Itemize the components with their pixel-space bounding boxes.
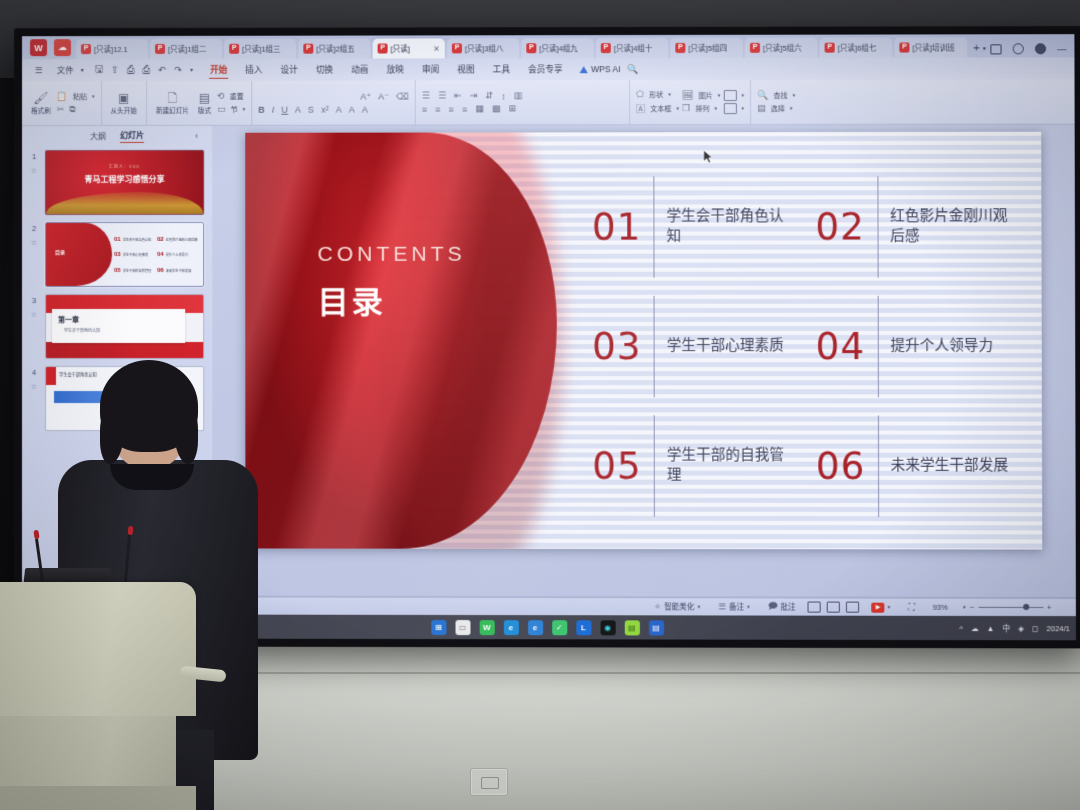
smartart-icon[interactable]: ▩: [492, 103, 501, 114]
entry-text: 学生会干部角色认知: [123, 238, 152, 242]
entry-num: 05: [114, 268, 121, 274]
chevron-down-icon[interactable]: ▾: [888, 604, 891, 610]
ribbon-tab-view[interactable]: 视图: [448, 63, 483, 75]
star-icon[interactable]: ☆: [31, 239, 37, 247]
format-painter-button[interactable]: 🖌 格式刷: [28, 92, 54, 115]
powerpoint-file-icon: P: [81, 44, 91, 54]
dark-app-icon[interactable]: ◉: [600, 620, 615, 635]
doc-tab-6[interactable]: P [只读]4组九: [521, 38, 593, 58]
doc-tab-label: [只读]培训班: [913, 42, 955, 53]
entry-num: 01: [114, 237, 121, 243]
table-of-contents: 01 学生会干部角色认知 02 红色影片金刚川观后感: [592, 170, 1016, 523]
ime-indicator[interactable]: 中: [1002, 623, 1010, 634]
save-icon[interactable]: 🖫: [95, 62, 103, 78]
chevron-down-icon[interactable]: ▾: [741, 92, 744, 98]
star-icon[interactable]: ☆: [31, 167, 37, 175]
outdent-icon[interactable]: ⇤: [454, 90, 462, 101]
doc-tab-label: [只读]1组三: [242, 43, 280, 54]
play-from-start-button[interactable]: ▣ 从头开始: [108, 91, 140, 114]
ribbon-tab-design[interactable]: 设计: [272, 64, 307, 76]
toc-divider: [654, 415, 655, 516]
toc-number: 05: [592, 447, 642, 484]
textbox-icon: 🄰: [636, 102, 645, 115]
thumb2-entry: 03 学生干部心理素质: [114, 248, 156, 262]
powerpoint-file-icon: P: [452, 43, 462, 53]
layout-button[interactable]: ▤ 版式: [195, 91, 214, 114]
line-spacing-icon[interactable]: ↕: [501, 91, 506, 101]
font-color-icon[interactable]: A: [336, 104, 342, 114]
zoom-out-button[interactable]: −: [970, 603, 974, 612]
zoom-knob[interactable]: [1023, 604, 1029, 610]
toc-text: 未来学生干部发展: [891, 456, 1008, 476]
highlight-icon[interactable]: A: [349, 104, 355, 114]
ribbon-tab-animation[interactable]: 动画: [342, 64, 377, 76]
text-direction-icon[interactable]: ⇵: [485, 90, 493, 101]
comment-label: 批注: [780, 601, 795, 612]
powerpoint-file-icon: P: [675, 43, 685, 53]
reading-view-icon[interactable]: [846, 602, 859, 613]
entry-text: 未来学生干部发展: [166, 269, 192, 273]
heading-english: CONTENTS: [318, 243, 466, 267]
toc-number: 02: [815, 208, 865, 245]
toc-item-05[interactable]: 05 学生干部的自我管理: [592, 409, 791, 523]
numbered-list-icon[interactable]: ☰: [438, 90, 446, 101]
normal-view-icon[interactable]: [808, 602, 821, 613]
chevron-left-icon[interactable]: ‹: [195, 131, 198, 141]
layout-icon: ▤: [199, 91, 210, 103]
ribbon-tab-slideshow[interactable]: 放映: [378, 63, 413, 75]
wps-ai-label: WPS AI: [591, 64, 621, 74]
thumb2-entry: 05 学生干部的自我管理: [114, 264, 156, 278]
thumb3-subtitle: 学生会干部角色认知: [64, 328, 100, 334]
ribbon-tab-transition[interactable]: 切换: [307, 64, 342, 76]
window-controls: —: [990, 43, 1074, 57]
doc-tab-4-active[interactable]: P [只读] ✕: [373, 38, 445, 58]
flag-decor: 目录: [46, 223, 112, 286]
slide-editing-stage[interactable]: CONTENTS 目录 01 学生会干部角色认知 02: [212, 125, 1076, 597]
volume-icon[interactable]: ◈: [1018, 624, 1024, 633]
slide-heading-block[interactable]: CONTENTS 目录: [318, 243, 466, 322]
bullet-list-icon[interactable]: ☰: [422, 90, 430, 101]
chevron-down-icon[interactable]: ▾: [92, 94, 95, 100]
format-painter-icon: 🖌: [33, 92, 48, 104]
slide-number-3: 3 ☆: [28, 294, 40, 359]
text-shading-icon[interactable]: A: [362, 104, 368, 114]
chevron-down-icon[interactable]: ▾: [243, 106, 246, 112]
green-app-icon[interactable]: ✓: [552, 620, 567, 635]
toc-number: 04: [816, 328, 866, 365]
doc-tab-5[interactable]: P [只读]3组八: [447, 38, 519, 58]
new-slide-button[interactable]: 🗋 新建幻灯片: [153, 91, 192, 114]
comment-icon: 🗩: [768, 600, 778, 614]
table-icon: [723, 103, 736, 114]
chevron-down-icon[interactable]: ▾: [677, 106, 680, 112]
chevron-down-icon[interactable]: ▾: [81, 67, 91, 74]
shapes-label: 形状: [649, 90, 663, 100]
hamburger-menu-icon[interactable]: ☰: [28, 65, 50, 76]
powerpoint-file-icon: P: [899, 43, 909, 53]
ribbon-group-clipboard: 🖌 格式刷 📋 粘贴 ▾ ✂ ⧉: [22, 81, 102, 125]
menu-bar: ☰ 文件 ▾ 🖫 ⇪ ⎙ ⎙ ↶ ↷ ▾ 开始 插入 设计 切换: [22, 57, 1075, 81]
play-from-start-icon: ▣: [118, 91, 129, 103]
bold-icon[interactable]: B: [258, 104, 265, 114]
doc-tab-label: [只读]: [391, 43, 410, 54]
select-button[interactable]: ▤ 选择 ▾: [757, 103, 795, 114]
doc-tab-1[interactable]: P [只读]1组二: [150, 39, 222, 59]
slide-index-label: 4: [32, 368, 36, 377]
find-button[interactable]: 🔍 查找 ▾: [757, 90, 795, 101]
thumb2-title: 目录: [55, 249, 65, 256]
copy-icon[interactable]: ⧉: [69, 104, 75, 115]
undo-icon[interactable]: ↶: [158, 64, 166, 75]
ribbon-toolbar: 🖌 格式刷 📋 粘贴 ▾ ✂ ⧉: [22, 79, 1075, 126]
zoom-in-button[interactable]: +: [1047, 603, 1051, 612]
align-justify-icon[interactable]: ≡: [462, 104, 467, 114]
print-icon[interactable]: ⎙: [127, 64, 135, 75]
speaker-notes-label: 备注: [729, 601, 744, 612]
thumb2-entry: 04 提升个人领导力: [157, 248, 199, 262]
lectern-top: [0, 582, 196, 716]
doc-tab-3[interactable]: P [只读]2组五: [298, 39, 370, 59]
italic-icon[interactable]: I: [272, 104, 275, 114]
ribbon-tab-review[interactable]: 审阅: [413, 63, 448, 75]
arrange-label: 排列: [695, 104, 709, 114]
picture-icon: 🖼: [682, 90, 694, 101]
search-icon: 🔍: [757, 90, 768, 101]
blue-app-icon[interactable]: ▤: [648, 620, 663, 635]
reset-label: 重置: [230, 91, 244, 101]
toc-divider: [653, 176, 654, 277]
grow-font-icon[interactable]: A⁺: [360, 91, 371, 102]
thumb1-subtitle: 汇报人：XXX: [46, 164, 203, 170]
smart-beautify-label: 智能美化: [664, 601, 694, 612]
thumb2-entry: 02 红色影片金刚川观后感: [157, 233, 199, 247]
doc-tab-2[interactable]: P [只读]1组三: [224, 39, 296, 59]
font-style-row: B I U A S x² A A A: [258, 104, 409, 114]
wps-ai-icon: [580, 66, 588, 73]
entry-text: 学生干部的自我管理: [123, 269, 152, 273]
ribbon-tab-start[interactable]: 开始: [201, 64, 236, 76]
toc-item-02[interactable]: 02 红色影片金刚川观后感: [815, 170, 1015, 284]
textbox-button[interactable]: 🄰 文本框 ▾: [636, 102, 679, 115]
red-band-bottom: [46, 342, 203, 358]
tab-slides[interactable]: 幻灯片: [120, 129, 144, 142]
thumb3-title: 第一章: [58, 315, 79, 325]
chevron-down-icon[interactable]: ▾: [714, 106, 717, 112]
chevron-down-icon[interactable]: ▾: [963, 604, 966, 610]
powerpoint-file-icon: P: [303, 44, 313, 54]
layout-label: 版式: [198, 104, 211, 114]
system-tray: ^ ☁ ▲ 中 ◈ ◻ 2024/1: [959, 622, 1069, 633]
file-menu[interactable]: 文件: [50, 64, 81, 76]
entry-text: 学生干部心理素质: [123, 253, 149, 257]
thumb2-entries: 01 学生会干部角色认知 02 红色影片金刚川观后感 0: [112, 223, 203, 286]
section-icon: ▭: [217, 104, 226, 115]
cut-button[interactable]: ✂ ⧉: [57, 104, 95, 115]
notes-icon: ☰: [718, 601, 726, 612]
select-icon: ▤: [757, 103, 766, 114]
find-label: 查找: [774, 90, 788, 100]
picture-button[interactable]: 🖼 图片 ▾: [682, 90, 720, 101]
entry-text: 红色影片金刚川观后感: [166, 238, 198, 242]
lectern-foot: [0, 786, 196, 810]
doc-tab-8[interactable]: P [只读]5组四: [670, 38, 743, 58]
doc-tab-label: [只读]1组二: [168, 43, 206, 54]
thumbnail-panel-tabs: 大纲 幻灯片 ‹: [22, 126, 212, 146]
wps-ai-button[interactable]: WPS AI: [572, 64, 621, 74]
file-explorer-icon[interactable]: ▭: [455, 620, 470, 635]
entry-num: 06: [157, 268, 164, 274]
toc-text: 学生干部心理素质: [667, 337, 784, 357]
zoom-track[interactable]: [978, 607, 1043, 609]
wall-power-outlet: [470, 768, 508, 796]
entry-num: 02: [157, 237, 164, 243]
reset-button[interactable]: ⟲ 重置: [217, 91, 245, 102]
shrink-font-icon[interactable]: A⁻: [378, 91, 389, 102]
entry-num: 03: [114, 252, 121, 258]
new-tab-button[interactable]: + ▾: [973, 42, 986, 57]
chevron-down-icon[interactable]: ▾: [718, 93, 721, 99]
columns-icon[interactable]: ▥: [514, 90, 523, 101]
lectern: [0, 582, 196, 810]
play-icon: ▶: [871, 602, 884, 612]
ribbon-tab-member[interactable]: 会员专享: [519, 63, 572, 75]
shapes-button[interactable]: ⬠ 形状 ▾: [636, 89, 679, 100]
thumb1-title: 青马工程学习感悟分享: [46, 174, 203, 185]
superscript-icon[interactable]: x²: [321, 104, 329, 114]
tray-date[interactable]: 2024/1: [1047, 624, 1070, 633]
doc-tab-11[interactable]: P [只读]培训班: [894, 37, 967, 57]
thumbnail-slide-1[interactable]: 汇报人：XXX 青马工程学习感悟分享: [45, 150, 204, 215]
mouse-cursor: [704, 150, 713, 163]
microphone-head-right: [128, 526, 134, 535]
toc-item-06[interactable]: 06 未来学生干部发展: [816, 409, 1016, 523]
doc-tab-label: [只读]5组四: [688, 42, 727, 53]
text-effect-icon[interactable]: A: [295, 104, 301, 114]
ribbon-group-slides: 🗋 新建幻灯片 ▤ 版式 ⟲ 重置: [147, 81, 252, 125]
chevron-down-icon[interactable]: ▾: [793, 92, 796, 98]
arrange-icon: ❐: [682, 103, 690, 114]
align-distribute-icon[interactable]: ▦: [475, 103, 484, 114]
red-flag-graphic: [245, 132, 557, 548]
toc-item-03[interactable]: 03 学生干部心理素质: [592, 290, 791, 404]
start-slideshow-button[interactable]: ▶ ▾: [862, 602, 899, 612]
presenter-collar: [110, 464, 194, 490]
entry-text: 提升个人领导力: [166, 253, 188, 257]
toc-divider: [877, 176, 878, 278]
lime-app-icon[interactable]: ▤: [624, 620, 639, 635]
doc-tab-0[interactable]: P [只读]12.1: [76, 39, 148, 59]
classroom-scene: W ☁ P [只读]12.1 P [只读]1组二 P [只读]1组三: [0, 0, 1080, 810]
list-row: ☰ ☰ ⇤ ⇥ ⇵ ↕ ▥: [422, 90, 623, 101]
arrange-button[interactable]: ❐ 排列 ▾: [682, 103, 720, 114]
textbox-label: 文本框: [650, 104, 671, 114]
edge-browser-icon[interactable]: e: [503, 620, 518, 635]
new-slide-label: 新建幻灯片: [156, 104, 189, 114]
new-slide-icon: 🗋: [168, 91, 178, 103]
ribbon-group-editing: 🔍 查找 ▾ ▤ 选择 ▾: [751, 80, 801, 124]
slide-number-1: 1 ☆: [28, 150, 40, 215]
cloud-sync-icon[interactable]: ⇪: [111, 65, 119, 76]
slide-index-label: 3: [32, 296, 36, 305]
ribbon-tab-tools[interactable]: 工具: [484, 63, 519, 75]
magic-wand-icon: ✧: [654, 601, 661, 612]
powerpoint-file-icon: P: [526, 43, 536, 53]
slide-number-2: 2 ☆: [28, 222, 40, 287]
table-button[interactable]: ▾: [723, 103, 744, 114]
collaborate-icon[interactable]: [1035, 43, 1046, 54]
object-align-icon[interactable]: ⊞: [508, 103, 516, 114]
thumbnail-slide-3[interactable]: 第一章 学生会干部角色认知: [45, 294, 204, 359]
clear-format-icon[interactable]: ⌫: [396, 91, 409, 102]
theme-toggle-icon[interactable]: [1013, 43, 1024, 54]
thumb2-entry: 06 未来学生干部发展: [157, 264, 199, 278]
toc-text: 提升个人领导力: [890, 337, 993, 357]
tab-outline[interactable]: 大纲: [90, 130, 106, 141]
fit-to-window-button[interactable]: ⛶: [899, 602, 923, 613]
underline-icon[interactable]: U: [281, 104, 288, 114]
powerpoint-file-icon: P: [750, 43, 760, 53]
cloud-doc-icon[interactable]: ☁: [54, 39, 71, 56]
toc-item-04[interactable]: 04 提升个人领导力: [815, 290, 1015, 404]
ribbon-group-paragraph: ☰ ☰ ⇤ ⇥ ⇵ ↕ ▥ ≡ ≡ ≡: [416, 80, 630, 124]
minimize-icon[interactable]: —: [1057, 44, 1066, 54]
star-icon[interactable]: ☆: [31, 383, 37, 391]
network-icon[interactable]: ▲: [987, 624, 995, 633]
cloud-icon[interactable]: ☁: [971, 623, 979, 632]
thumbnail-row-3[interactable]: 3 ☆ 第一章 学生会干部角色认知: [28, 294, 204, 359]
chevron-down-icon[interactable]: ▾: [747, 604, 750, 610]
toc-number: 03: [592, 328, 642, 365]
zoom-level-label[interactable]: 93%: [924, 603, 957, 612]
thumbnail-slide-2-selected[interactable]: 目录 01 学生会干部角色认知 02: [45, 222, 204, 287]
powerpoint-file-icon: P: [825, 43, 835, 53]
toc-text: 红色影片金刚川观后感: [890, 207, 1015, 246]
toc-divider: [878, 415, 879, 517]
chevron-down-icon[interactable]: ▾: [668, 92, 671, 98]
chevron-down-icon[interactable]: ▾: [698, 604, 701, 610]
align-row: ≡ ≡ ≡ ≡ ▦ ▩ ⊞: [422, 103, 623, 114]
thumbnail-row-2[interactable]: 2 ☆ 目录 01: [28, 222, 204, 287]
red-bar-decor: [46, 367, 56, 385]
search-icon[interactable]: 🔍: [621, 64, 646, 75]
strikethrough-icon[interactable]: S: [308, 104, 314, 114]
close-tab-icon[interactable]: ✕: [433, 44, 440, 53]
slide-number-4: 4 ☆: [28, 366, 40, 431]
powerpoint-file-icon: P: [155, 44, 165, 54]
tray-chevron-icon[interactable]: ^: [959, 623, 963, 632]
doc-tab-9[interactable]: P [只读]5组六: [745, 38, 818, 58]
reset-icon: ⟲: [217, 91, 225, 102]
toc-divider: [877, 296, 878, 398]
battery-icon[interactable]: ◻: [1032, 624, 1038, 633]
star-icon[interactable]: ☆: [31, 311, 37, 319]
start-button[interactable]: ⊞: [431, 619, 446, 634]
slide-index-label: 1: [32, 152, 36, 161]
plus-icon: +: [973, 42, 980, 54]
document-tab-strip: W ☁ P [只读]12.1 P [只读]1组二 P [只读]1组三: [22, 34, 1074, 59]
paste-label: 粘贴: [73, 92, 87, 102]
doc-tab-label: [只读]4组十: [614, 42, 653, 53]
align-right-icon[interactable]: ≡: [449, 104, 454, 114]
section-label: 节: [231, 104, 238, 114]
paste-icon: 📋: [57, 91, 68, 102]
microphone-head-left: [33, 530, 39, 540]
zoom-slider[interactable]: ▾ − +: [957, 603, 1052, 612]
align-center-icon[interactable]: ≡: [435, 104, 440, 114]
toc-text: 学生会干部角色认知: [667, 207, 792, 246]
slide-sorter-icon[interactable]: [827, 602, 840, 613]
toc-number: 06: [816, 448, 866, 485]
wps-logo-icon[interactable]: W: [30, 39, 47, 56]
qq-app-icon[interactable]: L: [576, 620, 591, 635]
select-label: 选择: [771, 103, 785, 113]
chevron-down-icon[interactable]: ▾: [790, 105, 793, 111]
doc-tab-label: [只读]12.1: [94, 44, 128, 55]
print-preview-icon[interactable]: ⎙: [142, 64, 150, 75]
comment-button[interactable]: 🗩 批注: [759, 600, 805, 614]
ribbon-group-insert-arrange: ⬠ 形状 ▾ 🄰 文本框 ▾ 🖼: [630, 80, 751, 124]
toc-number: 01: [592, 209, 642, 246]
chevron-down-icon[interactable]: ▾: [742, 106, 745, 112]
heading-chinese: 目录: [318, 277, 466, 322]
speaker-notes-button[interactable]: ☰ 备注 ▾: [709, 601, 759, 612]
powerpoint-file-icon: P: [601, 43, 611, 53]
wechat-icon[interactable]: W: [479, 620, 494, 635]
picture-label: 图片: [699, 91, 713, 101]
ribbon-group-slideshow-start: ▣ 从头开始: [102, 81, 147, 125]
redo-icon[interactable]: ↷: [174, 64, 182, 75]
toc-item-01[interactable]: 01 学生会干部角色认知: [592, 170, 791, 284]
current-slide-canvas[interactable]: CONTENTS 目录 01 学生会干部角色认知 02: [245, 132, 1042, 550]
fit-to-window-icon: ⛶: [908, 602, 914, 613]
format-painter-label: 格式刷: [31, 105, 51, 115]
slide-index-label: 2: [32, 224, 36, 233]
chart-icon: [723, 90, 736, 101]
entry-num: 04: [157, 252, 164, 258]
indent-icon[interactable]: ⇥: [470, 90, 478, 101]
customize-qat-icon[interactable]: ▾: [190, 66, 193, 73]
doc-tab-label: [只读]3组八: [465, 43, 504, 54]
powerpoint-file-icon: P: [229, 44, 239, 54]
quick-access-toolbar: 🖫 ⇪ ⎙ ⎙ ↶ ↷ ▾: [91, 62, 201, 78]
scissors-icon: ✂: [57, 104, 65, 115]
smart-beautify-button[interactable]: ✧ 智能美化 ▾: [645, 601, 709, 612]
doc-tab-label: [只读]2组五: [316, 43, 354, 54]
restore-window-icon[interactable]: [990, 44, 1001, 54]
toc-text: 学生干部的自我管理: [667, 446, 792, 485]
chevron-down-icon[interactable]: ▾: [983, 45, 986, 52]
section-button[interactable]: ▭ 节 ▾: [217, 104, 245, 115]
doc-tab-label: [只读]6组七: [838, 42, 877, 53]
chart-button[interactable]: ▾: [723, 90, 744, 101]
shapes-icon: ⬠: [636, 89, 644, 100]
doc-tab-label: [只读]5组六: [763, 42, 802, 53]
ribbon-group-font: A⁺ A⁻ ⌫ B I U A S x² A: [252, 80, 416, 124]
powerpoint-file-icon: P: [378, 44, 388, 54]
browser-360-icon[interactable]: e: [527, 620, 542, 635]
play-from-start-label: 从头开始: [111, 104, 137, 114]
toc-divider: [654, 296, 655, 397]
ribbon-tab-insert[interactable]: 插入: [236, 64, 271, 76]
paste-button[interactable]: 📋 粘贴 ▾: [57, 91, 95, 102]
thumb2-entry: 01 学生会干部角色认知: [114, 233, 156, 247]
align-left-icon[interactable]: ≡: [422, 104, 427, 114]
thumbnail-row-1[interactable]: 1 ☆ 汇报人：XXX 青马工程学习感悟分享: [28, 150, 204, 215]
gold-ribbon-decor: [46, 192, 203, 214]
doc-tab-7[interactable]: P [只读]4组十: [596, 38, 669, 58]
doc-tab-10[interactable]: P [只读]6组七: [820, 38, 893, 58]
